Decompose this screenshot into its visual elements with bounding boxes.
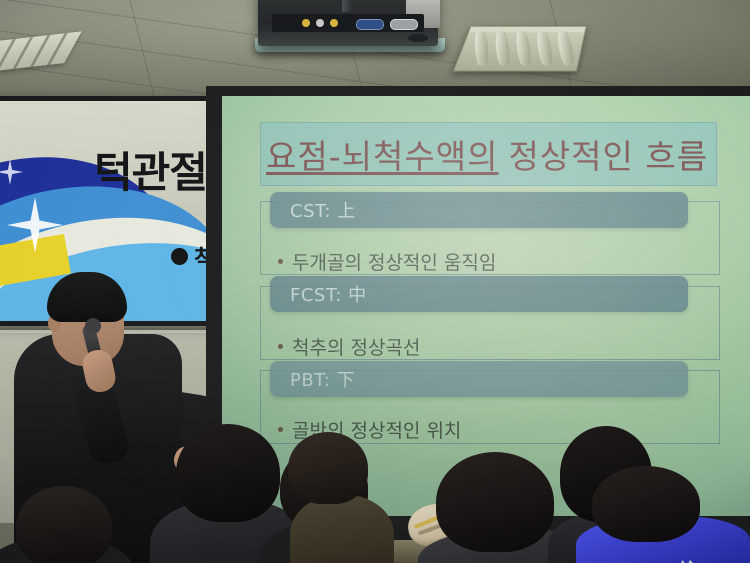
projector-lens — [408, 34, 428, 42]
block-header-fcst-label: FCST: 中 — [290, 281, 367, 307]
block-header-pbt-label: PBT: 下 — [290, 366, 355, 392]
audience-head-2 — [176, 424, 280, 522]
block-bullet-cst-label: 두개골의 정상적인 움직임 — [292, 248, 496, 275]
microphone-head — [85, 318, 101, 334]
block-header-pbt: PBT: 下 — [270, 361, 688, 397]
audience-head-1 — [16, 486, 112, 563]
jacket-logo-wrap — [576, 516, 750, 563]
bullet-dot-icon — [278, 344, 283, 349]
projector-arm — [342, 0, 352, 12]
slide-title-rest: 정상적인 흐름 — [508, 130, 708, 178]
bullet-dot-icon — [171, 248, 188, 265]
block-header-fcst: FCST: 中 — [270, 276, 688, 312]
bullet-dot-icon — [278, 427, 283, 432]
block-bullet-fcst: 척추의 정상곡선 — [278, 333, 420, 360]
bullet-dot-icon — [278, 259, 283, 264]
slide-title: 요점-뇌척수액의 정상적인 흐름 — [266, 126, 716, 182]
slide-title-underlined: 요점-뇌척수액의 — [266, 130, 498, 178]
block-header-cst-label: CST: 上 — [290, 197, 356, 223]
ceiling-mounted-projector — [258, 0, 438, 46]
block-bullet-fcst-label: 척추의 정상곡선 — [292, 333, 420, 360]
projector-port-panel — [272, 14, 424, 32]
block-header-cst: CST: 上 — [270, 192, 688, 228]
block-bullet-cst: 두개골의 정상적인 움직임 — [278, 248, 496, 275]
presenter-hair — [47, 272, 127, 322]
audience-head-5 — [436, 452, 554, 552]
lecture-photo-scene: 턱관절을 척 요점-뇌척수액의 정상적인 흐름 CST: 上 두개골의 정상적인… — [0, 0, 750, 563]
ceiling-air-vent — [453, 26, 587, 72]
audience-head-4 — [288, 432, 368, 504]
